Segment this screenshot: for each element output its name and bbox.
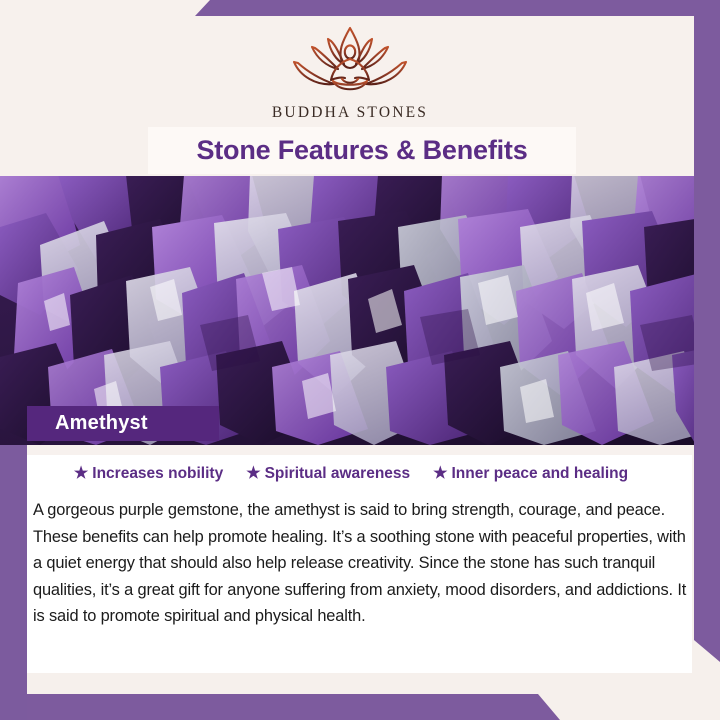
stone-name-tag: Amethyst	[27, 406, 219, 441]
page-title-plate: Stone Features & Benefits	[148, 127, 576, 174]
stone-features-poster: BUDDHA STONES Stone Features & Benefits	[0, 0, 720, 720]
lotus-meditation-icon	[276, 22, 424, 100]
benefit-label-2: Spiritual awareness	[265, 465, 411, 483]
page-title: Stone Features & Benefits	[196, 135, 527, 166]
hero-image	[0, 175, 720, 445]
left-accent-band	[0, 445, 27, 720]
right-accent-band	[694, 0, 720, 662]
benefit-item-2: ★ Spiritual awareness	[246, 465, 410, 483]
star-icon: ★	[433, 466, 447, 482]
benefits-list: ★ Increases nobility ★ Spiritual awarene…	[27, 465, 675, 483]
benefit-label-3: Inner peace and healing	[452, 465, 629, 483]
content-card: ★ Increases nobility ★ Spiritual awarene…	[27, 445, 692, 673]
stone-name-label: Amethyst	[27, 412, 148, 435]
benefit-item-3: ★ Inner peace and healing	[433, 465, 628, 483]
card-top-strip	[27, 445, 692, 455]
amethyst-cluster-illustration	[0, 175, 720, 445]
benefit-label-1: Increases nobility	[92, 465, 223, 483]
brand-logo: BUDDHA STONES	[0, 22, 700, 122]
bottom-accent-band	[0, 694, 560, 720]
benefit-item-1: ★ Increases nobility	[74, 465, 223, 483]
stone-description: A gorgeous purple gemstone, the amethyst…	[33, 497, 693, 630]
star-icon: ★	[246, 466, 260, 482]
brand-name: BUDDHA STONES	[0, 104, 700, 122]
star-icon: ★	[74, 466, 88, 482]
